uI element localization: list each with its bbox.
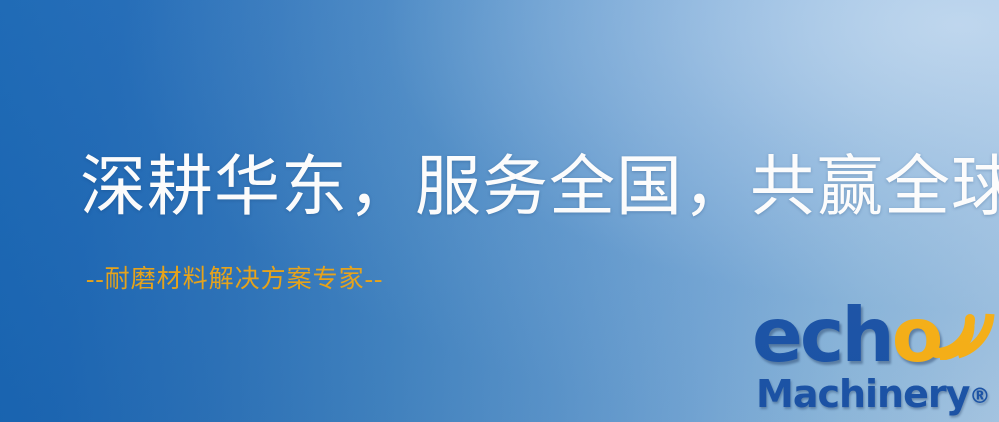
hero-banner: 深耕华东，服务全国，共赢全球 --耐磨材料解决方案专家-- echo Machi…	[0, 0, 999, 422]
registered-trademark-icon: ®	[969, 384, 990, 408]
echo-machinery-logo[interactable]: echo Machinery®	[742, 296, 994, 422]
logo-subtitle-text: Machinery	[756, 372, 969, 416]
banner-headline: 深耕华东，服务全国，共赢全球	[80, 150, 950, 226]
logo-wordmark: echo	[752, 298, 940, 373]
signal-waves-icon	[928, 294, 998, 360]
logo-subtitle: Machinery®	[756, 374, 990, 416]
banner-subheadline: --耐磨材料解决方案专家--	[86, 265, 383, 295]
logo-wordmark-ech: ech	[752, 291, 892, 379]
